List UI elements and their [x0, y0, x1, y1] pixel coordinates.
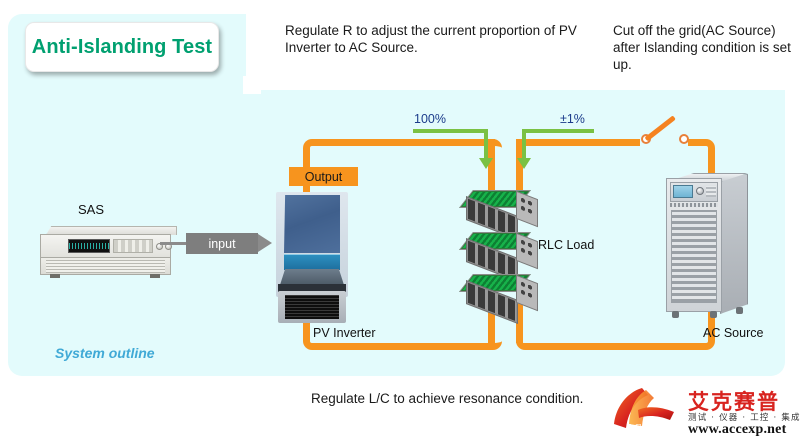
- ac-source-indicator-strip: [670, 203, 718, 207]
- output-tag-label: Output: [305, 170, 343, 184]
- sas-vent-slots: [46, 260, 165, 273]
- ac-source-vent-slats: [671, 210, 717, 303]
- ac-source-device: [662, 168, 752, 320]
- title-badge-label: Anti-Islanding Test: [32, 36, 212, 59]
- ac-source-caster-left: [672, 311, 679, 318]
- ac-source-caster-right: [710, 311, 717, 318]
- switch-terminal-right[interactable]: [679, 134, 689, 144]
- note-regulate-lc: Regulate L/C to achieve resonance condit…: [311, 391, 583, 406]
- logo-url: www.accexp.net: [688, 422, 786, 438]
- svg-text:ACC-EXP: ACC-EXP: [626, 422, 676, 434]
- measure-line-tol: [522, 129, 594, 133]
- ac-source-buttons: [706, 186, 716, 197]
- system-outline-label: System outline: [55, 345, 155, 361]
- rlc-load-unit-middle: [466, 232, 540, 280]
- pv-inverter-grille: [285, 295, 339, 319]
- measure-line-100: [413, 129, 488, 133]
- input-arrow-label: input: [208, 237, 235, 251]
- pv-inverter-label: PV Inverter: [313, 326, 376, 340]
- ac-source-lcd: [673, 185, 693, 198]
- pv-inverter-display-strip: [284, 254, 340, 270]
- sas-display-readout: [69, 243, 109, 249]
- sas-device: [40, 226, 177, 278]
- measure-arrowhead-tol: [517, 158, 531, 169]
- rlc-load-unit-bottom: [466, 274, 540, 322]
- sas-foot-left: [50, 274, 60, 278]
- measure-label-tol: ±1%: [560, 112, 585, 126]
- ac-source-side-panel: [720, 174, 748, 314]
- sas-label: SAS: [78, 202, 104, 217]
- ac-source-label: AC Source: [703, 326, 763, 340]
- measure-drop-tol: [522, 129, 526, 160]
- accexp-mark-icon: ACC-EXP: [612, 386, 684, 434]
- sas-foot-right: [150, 274, 160, 278]
- title-badge: Anti-Islanding Test: [25, 22, 219, 72]
- pv-inverter-slope: [280, 269, 344, 285]
- pv-inverter-panel-face: [284, 195, 340, 253]
- input-arrow-body: input: [186, 233, 258, 254]
- sas-keypad: [113, 239, 153, 253]
- note-cut-off-grid: Cut off the grid(AC Source) after Island…: [613, 22, 801, 73]
- pv-inverter-device: [276, 192, 348, 323]
- measure-arrowhead-100: [479, 158, 493, 169]
- rlc-load-unit-top: [466, 190, 540, 238]
- output-tag: Output: [289, 167, 358, 186]
- ac-source-caster-back: [736, 307, 743, 314]
- input-arrow-tail: [160, 242, 187, 245]
- ac-source-knob: [696, 187, 704, 195]
- diagram-canvas: Anti-Islanding Test Regulate R to adjust…: [0, 0, 801, 443]
- measure-label-100: 100%: [414, 112, 446, 126]
- note-regulate-r: Regulate R to adjust the current proport…: [285, 22, 585, 56]
- input-arrow-head: [258, 234, 272, 252]
- company-logo: ACC-EXP 艾克赛普 测试 · 仪器 · 工控 · 集成 www.accex…: [612, 384, 798, 439]
- rlc-load-label: RLC Load: [538, 238, 594, 252]
- measure-drop-100: [484, 129, 488, 160]
